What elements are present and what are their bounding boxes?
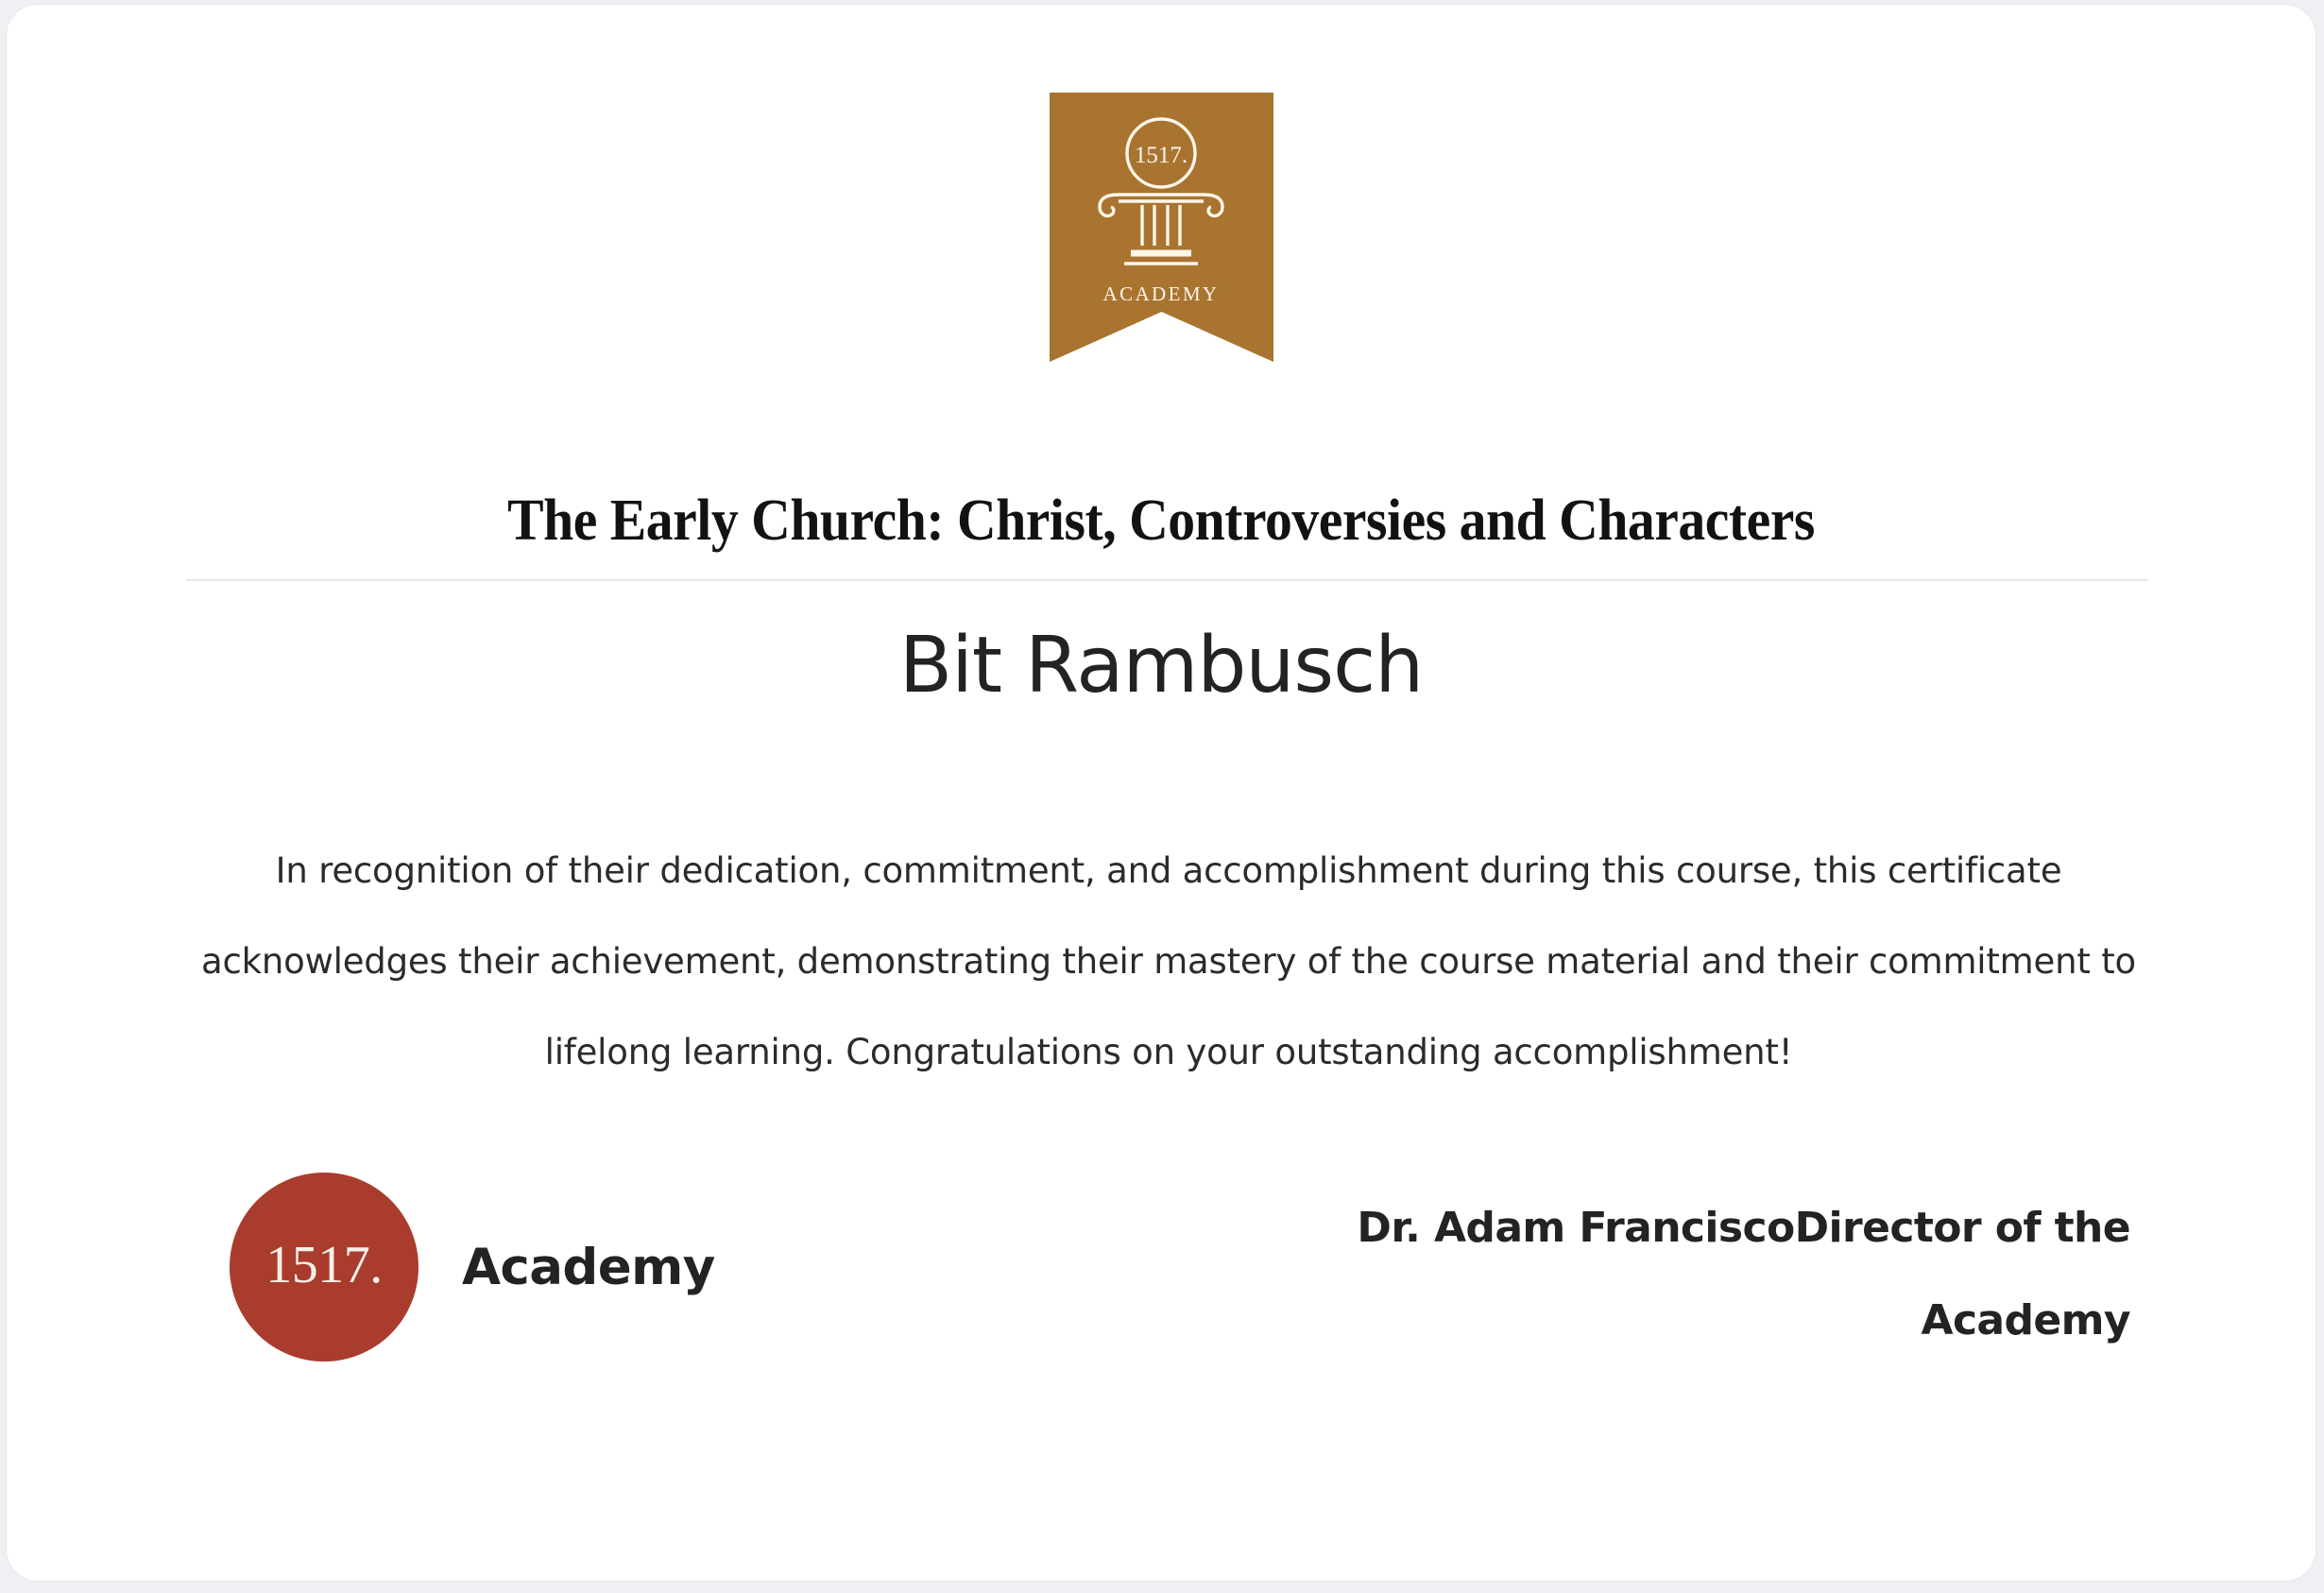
logo-banner-container: 1517. ACADEMY xyxy=(7,93,2315,362)
seal-year-text: 1517. xyxy=(265,1239,383,1295)
certificate-card: 1517. ACADEMY The Early Church: Christ, … xyxy=(6,4,2316,1582)
certificate-footer: 1517. Academy Dr. Adam FranciscoDirector… xyxy=(7,1173,2315,1380)
signatory-block: Dr. Adam FranciscoDirector of the Academ… xyxy=(1318,1182,2130,1367)
ribbon-banner-icon: 1517. ACADEMY xyxy=(1050,93,1273,362)
issuer-seal-block: 1517. Academy xyxy=(230,1173,715,1362)
medallion-year-text: 1517. xyxy=(1135,143,1188,168)
banner-wordmark: ACADEMY xyxy=(1103,283,1220,306)
course-title: The Early Church: Christ, Controversies … xyxy=(193,488,2129,553)
seal-badge-icon: 1517. xyxy=(230,1173,419,1362)
citation-text: In recognition of their dedication, comm… xyxy=(192,826,2145,1098)
issuer-label: Academy xyxy=(462,1239,715,1296)
ionic-column-icon: 1517. xyxy=(1090,113,1232,279)
recipient-name: Bit Rambusch xyxy=(120,624,2202,709)
title-divider xyxy=(186,579,2147,581)
